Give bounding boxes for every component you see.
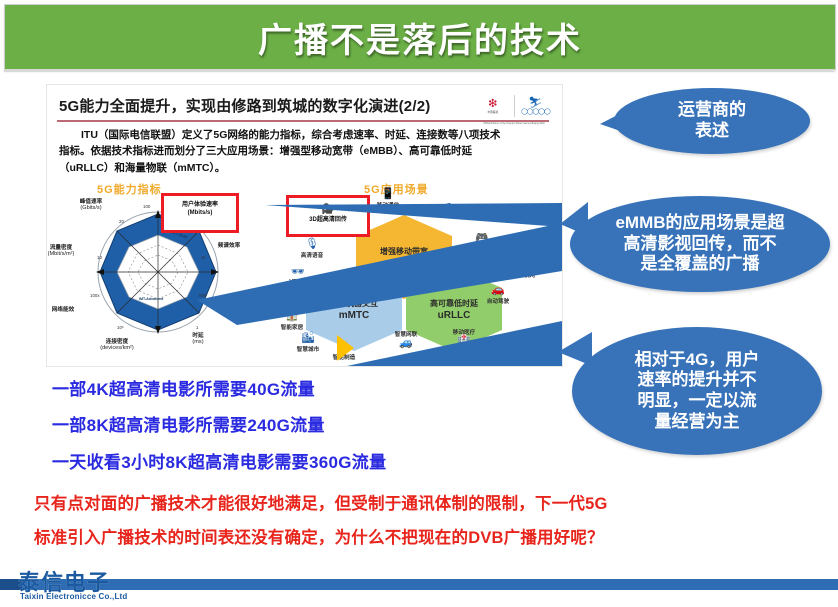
document-title: 5G能力全面提升，实现由修路到筑城的数字化演进(2/2) (59, 95, 479, 116)
document-title-rule (57, 120, 549, 122)
scenario-icon-industrial-internet: 🏭 工业互联网 (484, 259, 558, 279)
radar-axis-unit: (devices/km²) (100, 345, 134, 351)
radar-axis-label-network-efficiency: 网络能效 (46, 307, 87, 313)
statement-8k: 一部8K超高清电影所需要240G流量 (52, 411, 325, 436)
title-underline-divider (4, 69, 834, 72)
radar-axis-name: 移动性 (219, 301, 236, 307)
connected-car-icon: 🚙 (376, 338, 436, 349)
skier-icon: ⛷ (528, 98, 542, 109)
radar-tick: 3x (201, 255, 206, 260)
video-camera-icon: 🎥 (289, 204, 367, 217)
radar-axis-label-latency: 时延 (ms) (183, 333, 213, 346)
footer-bar (0, 579, 838, 590)
conclusion-line-2: 标准引入广播技术的时间表还没有确定，为什么不把现在的DVB广播用好呢？ (34, 524, 604, 548)
scenario-icon-cloud-gaming: 🎮 云游戏 (452, 233, 512, 253)
hex-embb-label-en: eMBB (390, 258, 418, 269)
conclusion-line-1: 只有点对面的广播技术才能很好地满足，但受制于通讯体制的限制，下一代5G (34, 490, 608, 514)
slide-title-bar: 广播不是落后的技术 (4, 4, 836, 70)
microphone-icon: 🎙 (282, 239, 342, 250)
callout-operator-statement: 运营商的 表述 (614, 88, 810, 154)
radar-tick: 10⁶ (117, 325, 124, 330)
olympic-logo-footnote: Official Partner of the Olympic Winter G… (475, 122, 553, 125)
radar-tick: 100 (143, 204, 150, 209)
page-title: 广播不是落后的技术 (258, 13, 582, 62)
scenario-icon-label: 高清语音 (282, 251, 342, 259)
statement-8k-3h: 一天收看3小时8K超高清电影需要360G流量 (52, 448, 386, 473)
statement-4k: 一部4K超高清电影所需要40G流量 (52, 375, 315, 400)
radar-axis-name: 连接密度 (106, 339, 128, 345)
scenario-icon-label: 工业互联网 (484, 271, 558, 279)
scenario-icon-m2m: 🖧 M2M (262, 287, 322, 305)
callout-line: 运营商的 (678, 100, 746, 121)
scenario-icon-smart-home: 🏠 智能家居 (262, 311, 322, 331)
vr-icon: 🕶 (268, 267, 328, 278)
unicom-mark-icon: ❇ (488, 99, 497, 110)
radar-axis-label-spectral-efficiency: 频谱效率 (207, 243, 251, 249)
radar-axis-label-traffic-density: 流量密度 (Mbit/s/m²) (46, 245, 89, 258)
cloud-office-icon: ☁ (418, 199, 478, 210)
radar-axis-name: 网络能效 (52, 307, 74, 313)
highlight-label-3d: 🎥 3D超高清回传 (289, 204, 367, 224)
callout-line: 表述 (678, 121, 746, 142)
callout-user-rate: 相对于4G，用户 速率的提升并不 明显，一定以流 量经营为主 (572, 327, 822, 455)
scenario-icon-label: 智能家居 (262, 323, 322, 331)
highlight-3d-text: 3D超高清回传 (309, 217, 347, 223)
highlight-axis-unit: (Mbits/s) (188, 210, 213, 216)
hex-mmtc-label-en: mMTC (339, 310, 370, 321)
scenario-icon-label: VR/AR (268, 279, 328, 285)
callout-line: 相对于4G，用户 (635, 350, 760, 371)
m2m-icon: 🖧 (262, 287, 322, 298)
hex-mmtc-label-cn: 海量机器交互 (330, 298, 378, 309)
callout-line: 速率的提升并不 (635, 370, 760, 391)
radar-axis-label-peak-rate: 峰值速率 (Gbits/s) (65, 199, 117, 212)
beijing2022-logo: ⛷ ◯◯◯◯◯ (518, 91, 554, 121)
scenario-icon-label: M2M (262, 299, 322, 305)
callout-line: 高清影视回传，而不 (615, 234, 784, 255)
callout-line: 量经营为主 (635, 412, 760, 433)
scenario-icon-label: 云游戏 (452, 245, 512, 253)
radar-axis-label-mobility: 移动性 (km/h) (205, 301, 249, 314)
scenario-icon-vr-ar: 🕶 VR/AR (268, 267, 328, 285)
radar-tick: 100x (90, 293, 100, 298)
factory-icon: 🏭 (484, 259, 558, 270)
radar-axis-label-connection-density: 连接密度 (devices/km²) (79, 339, 155, 352)
document-body-line: ITU（国际电信联盟）定义了5G网络的能力指标，综合考虑速率、时延、连接数等八项… (59, 127, 551, 143)
radar-series-label-imtadv: IMT-Advanced (139, 297, 163, 301)
scenario-icon-cloud-office: ☁ 云办公 (418, 199, 478, 219)
radar-axis-unit: (Mbit/s/m²) (48, 251, 75, 257)
radar-tick: 10 (97, 255, 102, 260)
callout-line: 明显，一定以流 (635, 391, 760, 412)
hex-embb-label-cn: 增强移动带宽 (380, 246, 428, 257)
home-icon: 🏠 (262, 311, 322, 322)
car-icon: 🚗 (468, 285, 528, 296)
callout-line: eMMB的应用场景是超 (615, 213, 784, 234)
company-logo-en: Taixin Electronicce Co.,Ltd (20, 592, 128, 601)
radar-axis-name: 时延 (192, 333, 203, 339)
scenario-icon-hd-voice: 🎙 高清语音 (282, 239, 342, 259)
yellow-arrow-icon (337, 335, 354, 361)
slide-root: 广播不是落后的技术 5G能力全面提升，实现由修路到筑城的数字化演进(2/2) ❇… (0, 0, 838, 607)
callout-line: 是全覆盖的广播 (615, 254, 784, 275)
hex-urllc-label-en: uRLLC (438, 310, 471, 321)
radar-tick: 1 (196, 325, 198, 330)
radar-axis-name: 频谱效率 (218, 243, 240, 249)
radar-axis-name: 峰值速率 (80, 199, 102, 205)
scenario-icon-autonomous-driving: 🚗 自动驾驶 (468, 285, 528, 305)
document-body-line: （uRLLC）和海量物联（mMTC）。 (59, 160, 551, 176)
document-body-line: 指标。依据技术指标进而划分了三大应用场景：增强型移动宽带（eMBB）、高可靠低时… (59, 143, 551, 159)
callout-embb-scenario: eMMB的应用场景是超 高清影视回传，而不 是全覆盖的广播 (570, 196, 830, 292)
highlight-axis-name: 用户体验速率 (182, 202, 218, 208)
scenario-icon-connected-vehicle: 智慧网联 🚙 (376, 329, 436, 349)
scenario-icon-label: 自动驾驶 (468, 297, 528, 305)
scenario-diagram: 5G应用场景 增强移动带宽 eMBB 海量机器交互 mMTC 高可靠低时延 uR… (272, 181, 562, 361)
highlight-box-user-experience-rate: 用户体验速率 (Mbits/s) (161, 193, 239, 233)
radar-axis-name: 流量密度 (50, 245, 72, 251)
embedded-document-panel: 5G能力全面提升，实现由修路到筑城的数字化演进(2/2) ❇ 中国联通 ⛷ ◯◯… (46, 84, 563, 367)
scenario-icon-mobile-medical: 移动医疗 🏥 (434, 327, 494, 347)
medical-icon: 🏥 (434, 336, 494, 347)
radar-tick: 500 (199, 293, 206, 298)
highlight-box-3d-broadcast: 🎥 3D超高清回传 (286, 195, 370, 237)
olympic-rings-icon: ◯◯◯◯◯ (521, 109, 550, 115)
radar-axis-unit: (km/h) (219, 307, 235, 313)
radar-axis-unit: (Gbits/s) (80, 205, 101, 211)
china-unicom-logo: ❇ 中国联通 (475, 91, 511, 121)
unicom-logo-caption: 中国联通 (488, 110, 498, 114)
gamepad-icon: 🎮 (452, 233, 512, 244)
radar-axis-unit: (ms) (192, 339, 203, 345)
scenario-icon-label: 云办公 (418, 211, 478, 219)
radar-tick: 20 (119, 219, 124, 224)
document-body: ITU（国际电信联盟）定义了5G网络的能力指标，综合考虑速率、时延、连接数等八项… (59, 127, 551, 176)
highlight-label-user-rate: 用户体验速率 (Mbits/s) (164, 202, 236, 217)
logo-divider (514, 95, 515, 117)
radar-chart-title: 5G能力指标 (97, 181, 162, 197)
olympic-partner-logo: ❇ 中国联通 ⛷ ◯◯◯◯◯ Official Partner of the O… (475, 91, 553, 121)
